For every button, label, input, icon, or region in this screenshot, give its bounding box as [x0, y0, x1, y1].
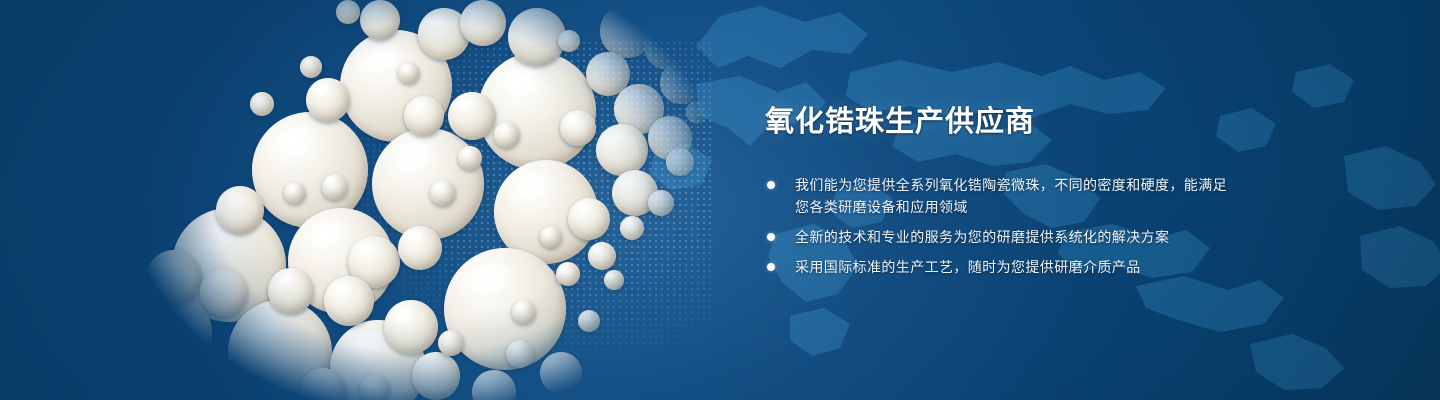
bullet-dot-icon	[767, 263, 775, 271]
bullet-dot-icon	[767, 181, 775, 189]
banner-copy: 氧化锆珠生产供应商 我们能为您提供全系列氧化锆陶瓷微珠，不同的密度和硬度，能满足…	[765, 106, 1235, 278]
hero-banner: 氧化锆珠生产供应商 我们能为您提供全系列氧化锆陶瓷微珠，不同的密度和硬度，能满足…	[0, 0, 1440, 400]
bullet-dot-icon	[767, 233, 775, 241]
list-item: 全新的技术和专业的服务为您的研磨提供系统化的解决方案	[765, 226, 1235, 248]
list-item: 我们能为您提供全系列氧化锆陶瓷微珠，不同的密度和硬度，能满足您各类研磨设备和应用…	[765, 174, 1235, 218]
list-item-text: 采用国际标准的生产工艺，随时为您提供研磨介质产品	[795, 259, 1141, 275]
banner-headline: 氧化锆珠生产供应商	[765, 106, 1235, 140]
list-item: 采用国际标准的生产工艺，随时为您提供研磨介质产品	[765, 256, 1235, 278]
list-item-text: 我们能为您提供全系列氧化锆陶瓷微珠，不同的密度和硬度，能满足您各类研磨设备和应用…	[795, 177, 1227, 215]
feature-list: 我们能为您提供全系列氧化锆陶瓷微珠，不同的密度和硬度，能满足您各类研磨设备和应用…	[765, 174, 1235, 278]
list-item-text: 全新的技术和专业的服务为您的研磨提供系统化的解决方案	[795, 229, 1169, 245]
